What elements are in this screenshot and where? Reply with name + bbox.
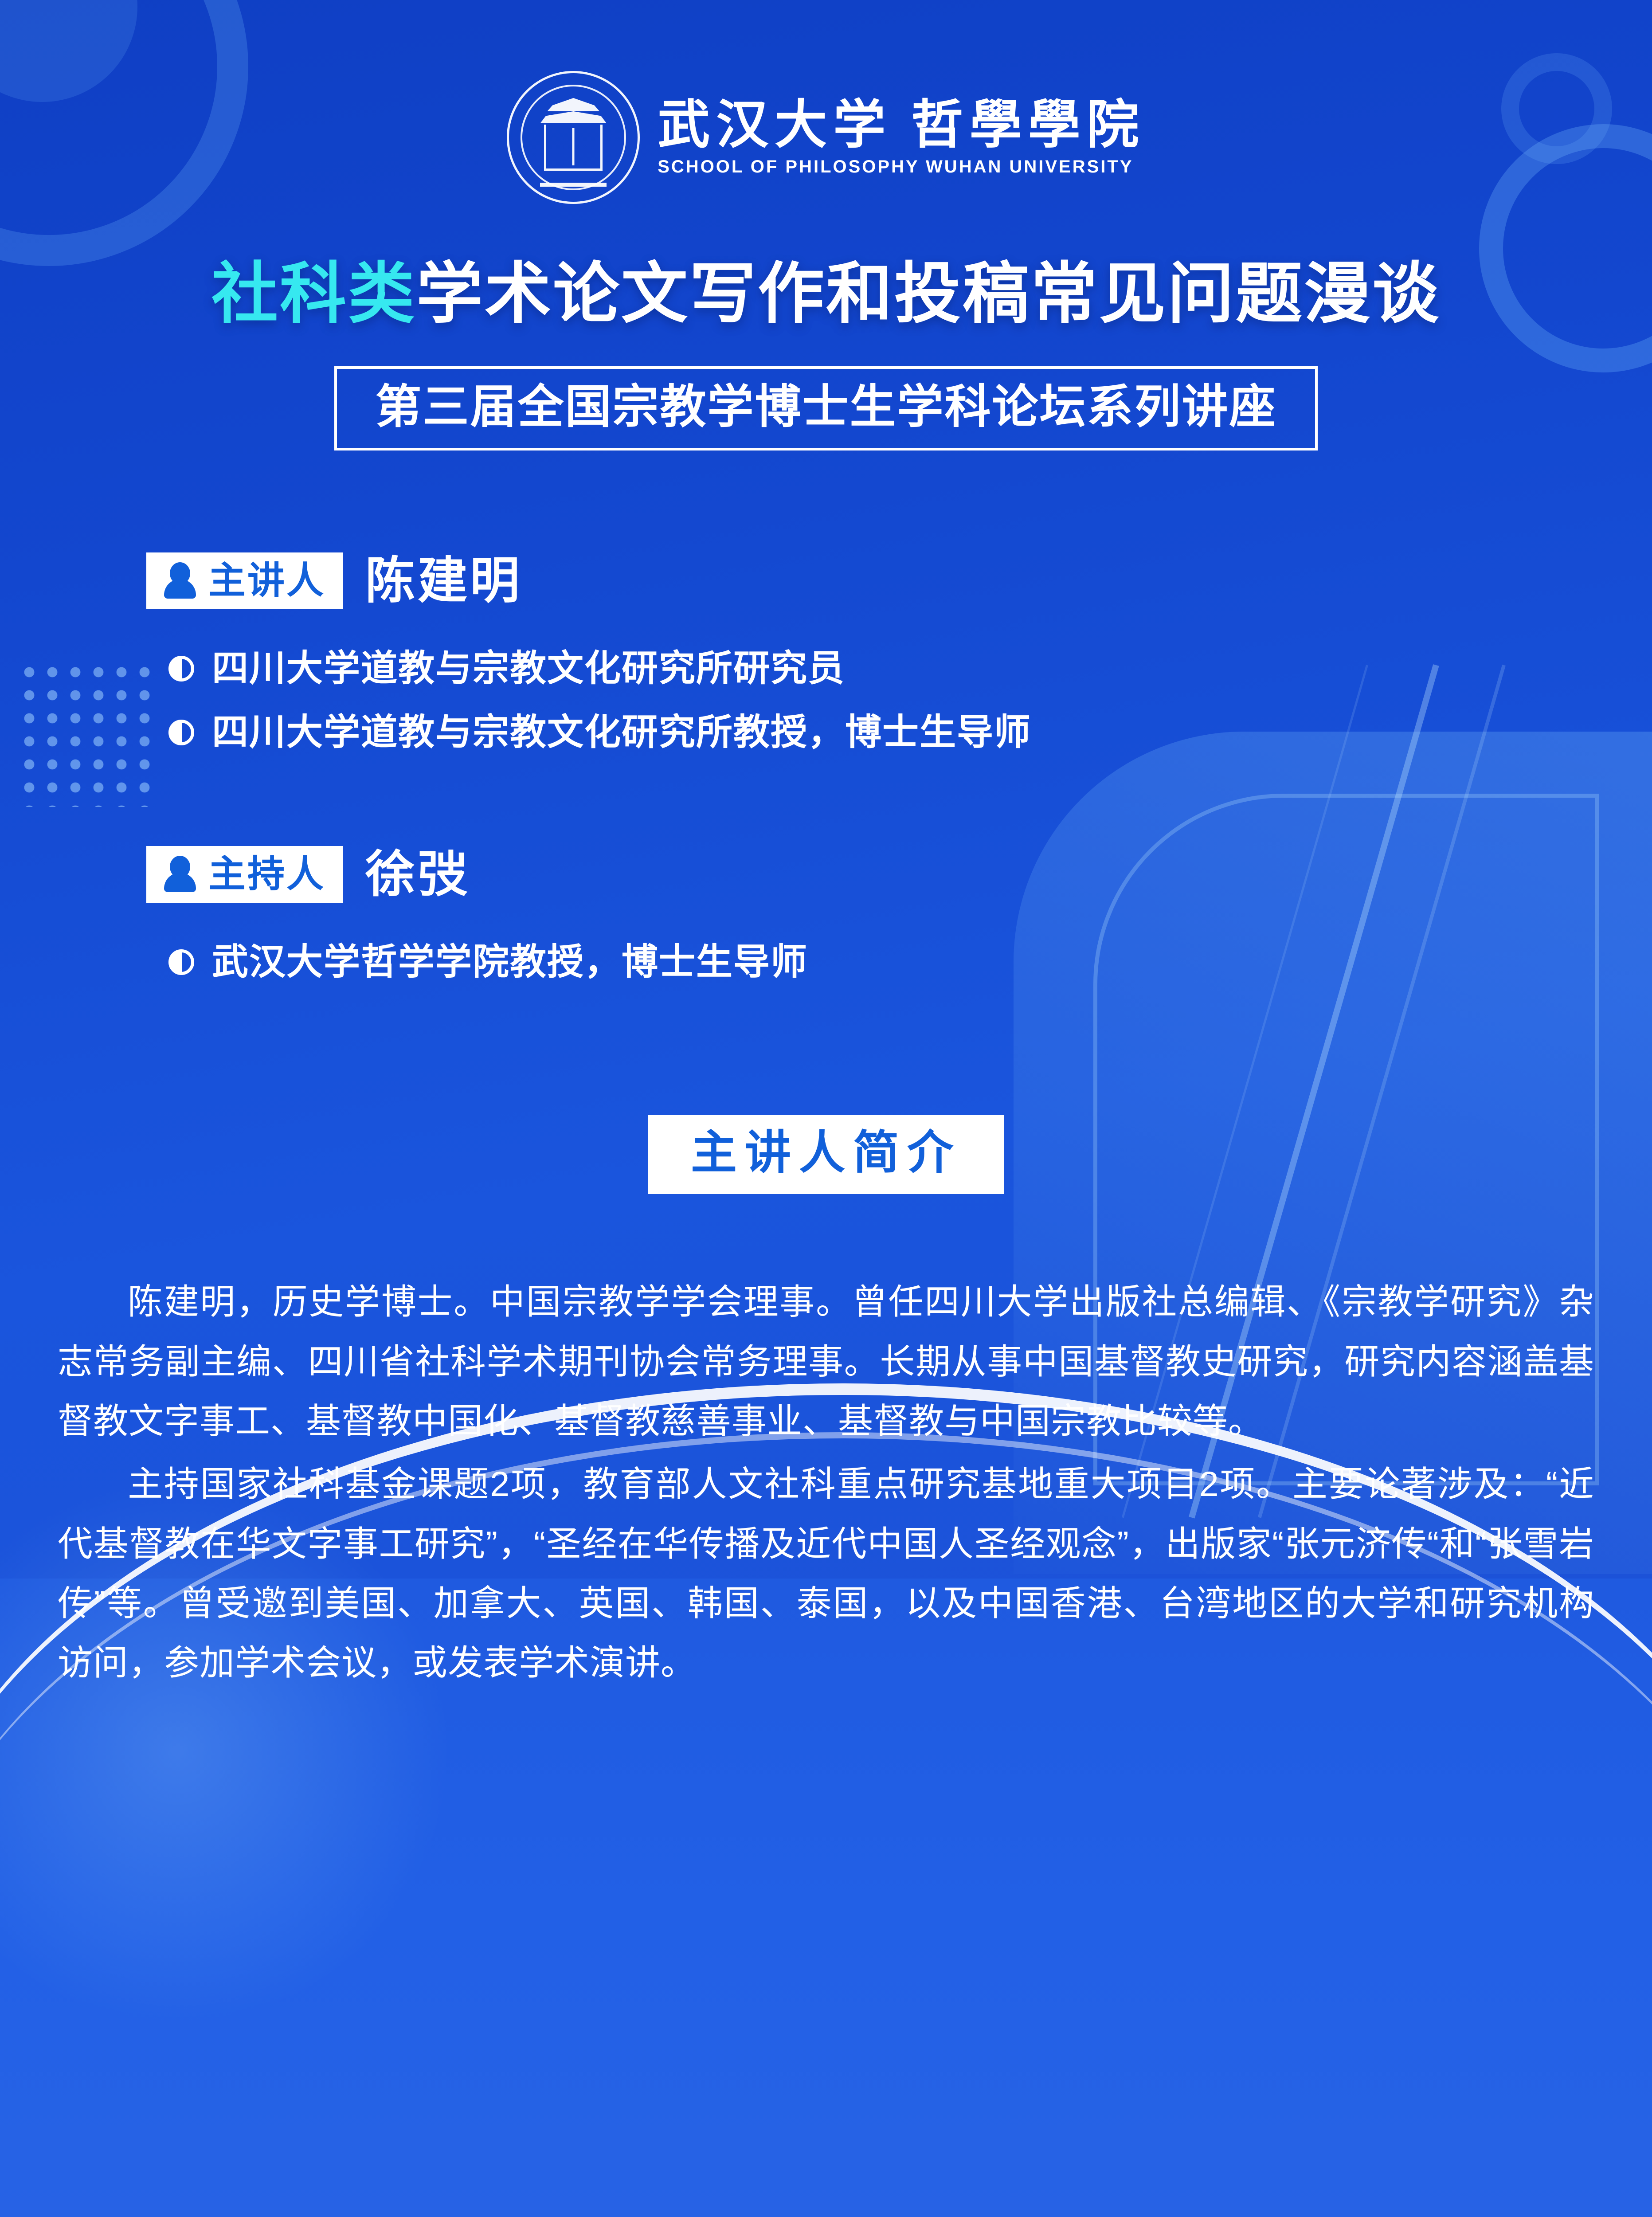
host-row: 主持人 徐弢 <box>146 846 1652 903</box>
bullet-marker-icon <box>168 720 194 745</box>
person-icon-body <box>164 873 196 892</box>
page-title-highlight: 社科类 <box>211 256 416 331</box>
subtitle-container: 第三届全国宗教学博士生学科论坛系列讲座 <box>0 366 1652 450</box>
list-item: 四川大学道教与宗教文化研究所教授，博士生导师 <box>168 712 1652 753</box>
person-icon <box>164 561 196 599</box>
organization-wordmark: 武汉大学 哲學學院 SCHOOL OF PHILOSOPHY WUHAN UNI… <box>658 98 1145 177</box>
speaker-name: 陈建明 <box>365 556 522 606</box>
speaker-credentials: 四川大学道教与宗教文化研究所研究员 四川大学道教与宗教文化研究所教授，博士生导师 <box>146 648 1652 753</box>
seal-roof-upper <box>547 98 599 111</box>
university-seal-icon <box>507 71 640 204</box>
page-subtitle: 第三届全国宗教学博士生学科论坛系列讲座 <box>334 366 1317 450</box>
host-credentials: 武汉大学哲学学院教授，博士生导师 <box>146 942 1652 983</box>
people-section: 主讲人 陈建明 四川大学道教与宗教文化研究所研究员 四川大学道教与宗教文化研究所… <box>0 552 1652 982</box>
seal-base <box>540 183 607 187</box>
page-title-rest: 学术论文写作和投稿常见问题漫谈 <box>416 256 1441 331</box>
host-role-badge: 主持人 <box>146 846 343 903</box>
speaker-credential-text: 四川大学道教与宗教文化研究所教授，博士生导师 <box>212 712 1031 753</box>
poster-content: 武汉大学 哲學學院 SCHOOL OF PHILOSOPHY WUHAN UNI… <box>0 0 1652 1693</box>
seal-pavilion-glyph <box>536 95 611 180</box>
bullet-marker-icon <box>168 656 194 682</box>
page-title: 社科类学术论文写作和投稿常见问题漫谈 <box>0 256 1652 331</box>
organization-name-cn: 武汉大学 哲學學院 <box>658 98 1145 153</box>
bio-heading-container: 主讲人简介 <box>0 1115 1652 1194</box>
bio-body: 陈建明，历史学博士。中国宗教学学会理事。曾任四川大学出版社总编辑、《宗教学研究》… <box>58 1272 1594 1692</box>
list-item: 武汉大学哲学学院教授，博士生导师 <box>168 942 1652 983</box>
seal-roof-lower <box>540 111 606 123</box>
seal-columns <box>544 125 603 171</box>
list-item: 四川大学道教与宗教文化研究所研究员 <box>168 648 1652 689</box>
speaker-credential-text: 四川大学道教与宗教文化研究所研究员 <box>212 648 845 689</box>
speaker-role-badge: 主讲人 <box>146 552 343 609</box>
poster-root: 武汉大学 哲學學院 SCHOOL OF PHILOSOPHY WUHAN UNI… <box>0 0 1652 2217</box>
bio-heading: 主讲人简介 <box>648 1115 1004 1194</box>
bio-paragraph: 主持国家社科基金课题2项，教育部人文社科重点研究基地重大项目2项。主要论著涉及：… <box>58 1454 1594 1692</box>
speaker-role-label: 主讲人 <box>208 562 325 599</box>
bullet-marker-icon <box>168 949 194 975</box>
host-name: 徐弢 <box>365 850 470 899</box>
bio-paragraph: 陈建明，历史学博士。中国宗教学学会理事。曾任四川大学出版社总编辑、《宗教学研究》… <box>58 1272 1594 1451</box>
host-role-label: 主持人 <box>208 855 325 893</box>
person-icon-body <box>164 579 196 599</box>
spacer <box>146 753 1652 846</box>
person-icon <box>164 855 196 893</box>
organization-logo: 武汉大学 哲學學院 SCHOOL OF PHILOSOPHY WUHAN UNI… <box>0 0 1652 204</box>
organization-name-en: SCHOOL OF PHILOSOPHY WUHAN UNIVERSITY <box>658 157 1145 177</box>
host-credential-text: 武汉大学哲学学院教授，博士生导师 <box>212 942 808 983</box>
speaker-row: 主讲人 陈建明 <box>146 552 1652 609</box>
